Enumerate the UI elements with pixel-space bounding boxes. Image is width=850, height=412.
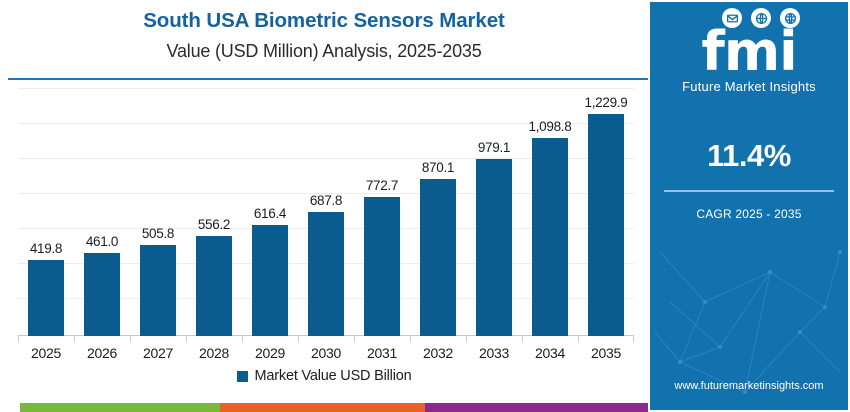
bar-value-label: 1,098.8: [529, 119, 572, 134]
x-axis-tick-2031: 2031: [354, 336, 410, 364]
bar-slot: 505.8: [130, 88, 186, 336]
bar-series: 419.8461.0505.8556.2616.4687.8772.7870.1…: [18, 88, 634, 336]
chart-infographic: South USA Biometric Sensors Market Value…: [0, 0, 850, 412]
bar-slot: 772.7: [354, 88, 410, 336]
website-url: www.futuremarketinsights.com: [650, 380, 848, 392]
chart-legend: Market Value USD Billion: [0, 368, 648, 384]
bar-slot: 1,098.8: [522, 88, 578, 336]
bar: [28, 260, 64, 336]
bar-slot: 687.8: [298, 88, 354, 336]
chart-subtitle: Value (USD Million) Analysis, 2025-2035: [0, 33, 648, 62]
x-axis-tick-2027: 2027: [130, 336, 186, 364]
bar-slot: 870.1: [410, 88, 466, 336]
header-divider: [8, 78, 648, 80]
bar-value-label: 419.8: [30, 241, 62, 256]
page-title: South USA Biometric Sensors Market: [0, 0, 648, 33]
x-axis-tick-2032: 2032: [410, 336, 466, 364]
bar: [252, 225, 288, 336]
x-axis-tick-2030: 2030: [298, 336, 354, 364]
x-axis-tick-2033: 2033: [466, 336, 522, 364]
chart-region: South USA Biometric Sensors Market Value…: [0, 0, 648, 412]
x-axis-tick-2029: 2029: [242, 336, 298, 364]
cagr-label: CAGR 2025 - 2035: [650, 207, 848, 221]
legend-swatch: [237, 371, 248, 382]
bar-slot: 979.1: [466, 88, 522, 336]
bar-slot: 461.0: [74, 88, 130, 336]
bar-slot: 616.4: [242, 88, 298, 336]
strip-segment-orange: [220, 403, 425, 412]
brand-panel: fmi Future Market Insights 11.4% CAGR 20…: [650, 2, 848, 410]
bar-value-label: 1,229.9: [585, 95, 628, 110]
strip-segment-purple: [425, 403, 648, 412]
bar-value-label: 687.8: [310, 193, 342, 208]
bar-slot: 419.8: [18, 88, 74, 336]
bar: [588, 114, 624, 336]
x-axis-tick-2025: 2025: [18, 336, 74, 364]
bar-value-label: 556.2: [198, 217, 230, 232]
bar: [420, 179, 456, 336]
bar-value-label: 461.0: [86, 234, 118, 249]
bar-value-label: 505.8: [142, 226, 174, 241]
strip-pad: [0, 403, 20, 412]
x-axis-labels: 2025202620272028202920302031203220332034…: [18, 336, 634, 364]
bar-value-label: 870.1: [422, 160, 454, 175]
bar: [196, 236, 232, 336]
bar: [84, 253, 120, 336]
chart-header: South USA Biometric Sensors Market Value…: [0, 0, 648, 80]
plot-area: 419.8461.0505.8556.2616.4687.8772.7870.1…: [18, 88, 634, 336]
legend-label: Market Value USD Billion: [255, 368, 412, 384]
bar: [308, 212, 344, 336]
x-axis-tick-2028: 2028: [186, 336, 242, 364]
bar: [476, 159, 512, 336]
bar-slot: 556.2: [186, 88, 242, 336]
bar: [532, 138, 568, 336]
bar: [140, 245, 176, 336]
bar-value-label: 772.7: [366, 178, 398, 193]
cagr-value: 11.4%: [650, 138, 848, 174]
x-axis-tick-2035: 2035: [578, 336, 634, 364]
x-axis-tick-2026: 2026: [74, 336, 130, 364]
bar-slot: 1,229.9: [578, 88, 634, 336]
bar: [364, 197, 400, 336]
x-axis-tick-2034: 2034: [522, 336, 578, 364]
strip-segment-green: [20, 403, 220, 412]
fmi-logo: fmi Future Market Insights: [650, 8, 848, 94]
bottom-color-strip: [0, 403, 850, 412]
cagr-divider: [664, 190, 834, 192]
bar-value-label: 616.4: [254, 206, 286, 221]
logo-wordmark: fmi: [650, 26, 848, 77]
bar-value-label: 979.1: [478, 140, 510, 155]
logo-tagline: Future Market Insights: [650, 79, 848, 94]
